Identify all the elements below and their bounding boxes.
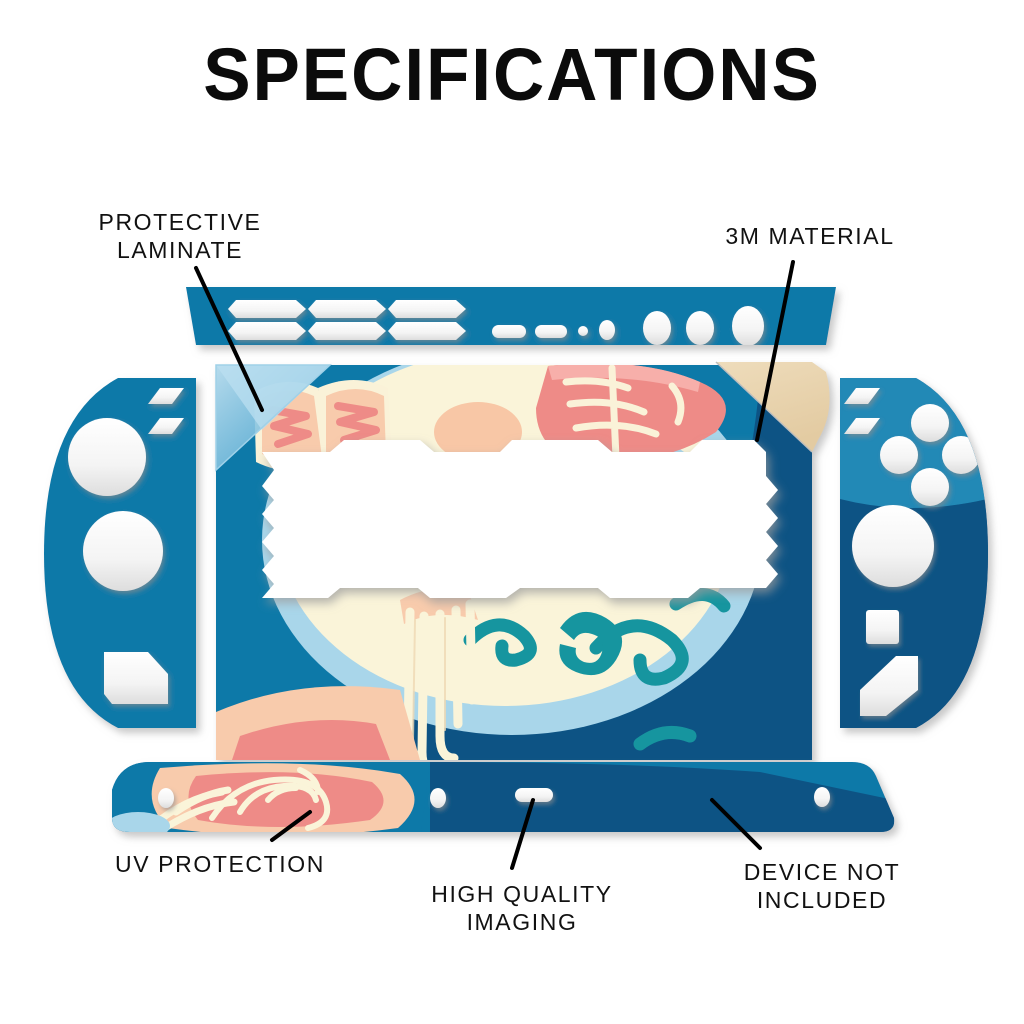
- callout-label-high-quality-imaging: HIGH QUALITY IMAGING: [362, 880, 682, 936]
- skin-piece-right-controller: [836, 378, 992, 740]
- callout-label-uv-protection: UV PROTECTION: [0, 850, 445, 878]
- callout-label-device-not-included: DEVICE NOT INCLUDED: [672, 858, 972, 914]
- skin-piece-bottom-strip: [106, 762, 894, 840]
- specification-figure: SPECIFICATIONS: [0, 0, 1024, 1024]
- skin-piece-left-controller: [44, 378, 196, 728]
- skin-piece-top-vent-strip: [186, 287, 836, 346]
- callout-label-protective-laminate: PROTECTIVE LAMINATE: [20, 208, 340, 264]
- callout-label-3m-material: 3M MATERIAL: [640, 222, 980, 250]
- torn-tape-overlay: [262, 440, 778, 598]
